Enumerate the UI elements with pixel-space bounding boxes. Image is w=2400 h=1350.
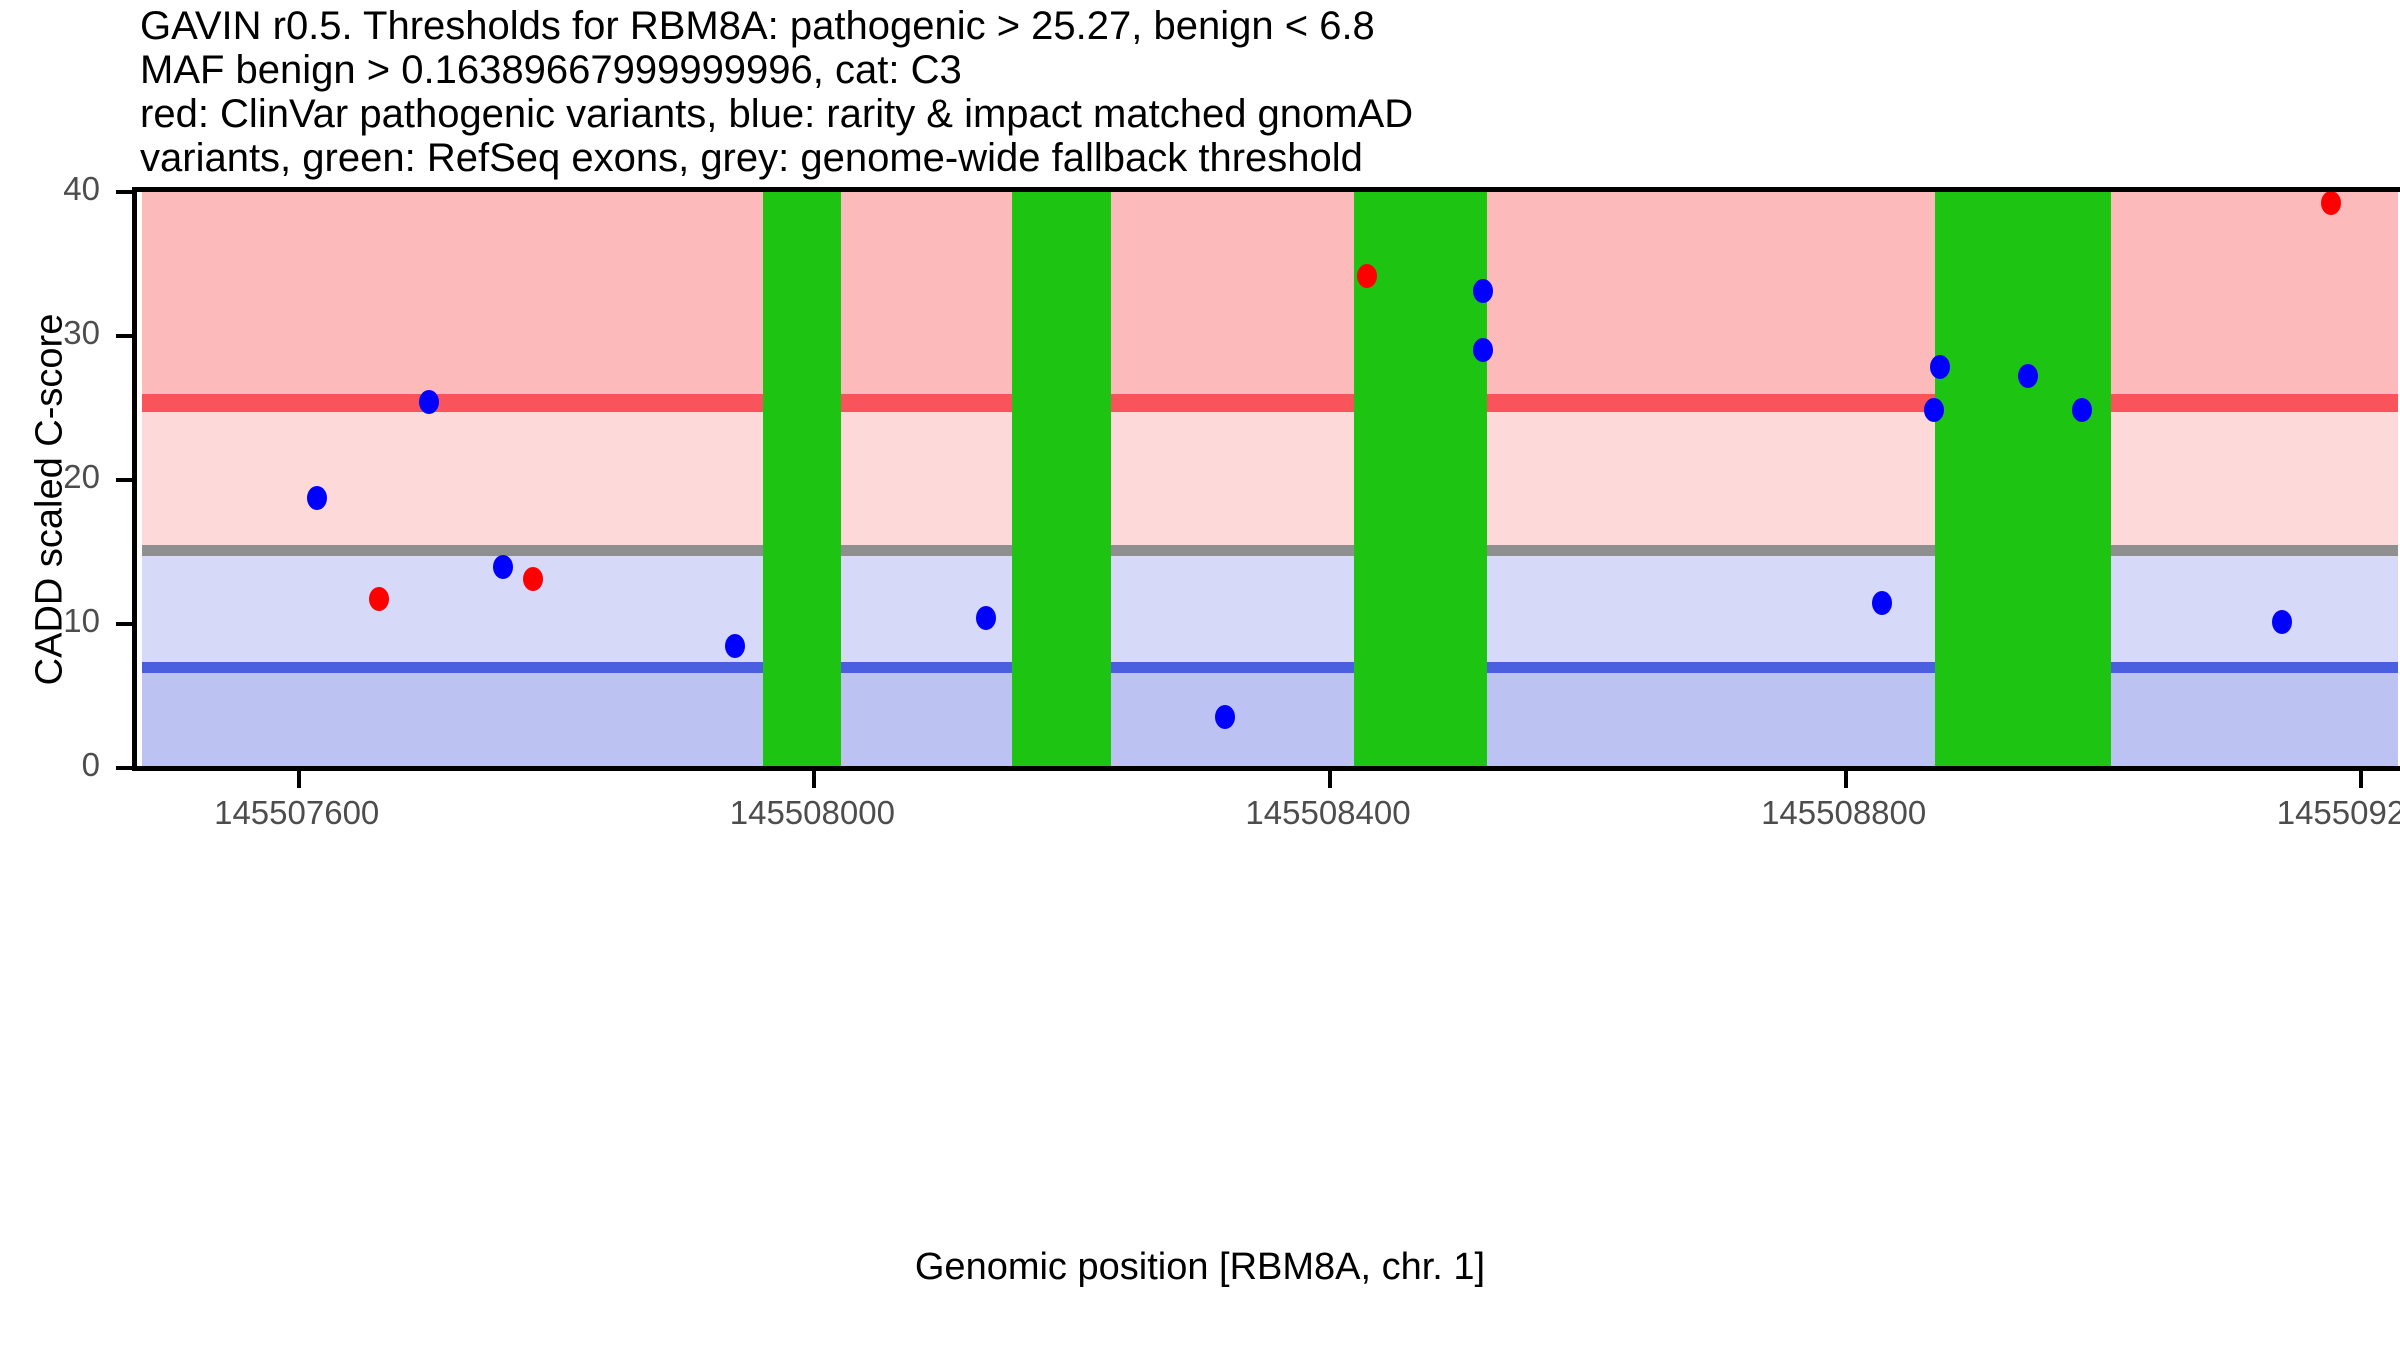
- x-tick-145508000: [812, 770, 816, 788]
- data-point-blue[interactable]: [1473, 279, 1493, 303]
- title-line-1: GAVIN r0.5. Thresholds for RBM8A: pathog…: [140, 4, 2340, 48]
- exon-bar-1: [763, 190, 840, 766]
- data-point-blue[interactable]: [1473, 338, 1493, 362]
- x-tick-145508400: [1328, 770, 1332, 788]
- y-tick-20: [116, 478, 134, 482]
- x-tick-label-145509200: 145509200: [2277, 794, 2400, 832]
- data-point-blue[interactable]: [1924, 398, 1944, 422]
- data-point-red[interactable]: [369, 587, 389, 611]
- data-point-blue[interactable]: [1930, 355, 1950, 379]
- data-point-blue[interactable]: [725, 634, 745, 658]
- x-tick-145507600: [297, 770, 301, 788]
- data-point-blue[interactable]: [419, 390, 439, 414]
- y-tick-0: [116, 766, 134, 770]
- data-point-red[interactable]: [1357, 264, 1377, 288]
- data-point-red[interactable]: [2321, 191, 2341, 215]
- x-axis-title: Genomic position [RBM8A, chr. 1]: [0, 1246, 2400, 1289]
- exon-bar-2: [1012, 190, 1111, 766]
- data-point-blue[interactable]: [976, 606, 996, 630]
- chart-title-block: GAVIN r0.5. Thresholds for RBM8A: pathog…: [140, 4, 2340, 180]
- x-tick-145508800: [1844, 770, 1848, 788]
- y-tick-10: [116, 622, 134, 626]
- data-point-blue[interactable]: [2072, 398, 2092, 422]
- data-point-blue[interactable]: [2272, 610, 2292, 634]
- x-tick-label-145508400: 145508400: [1245, 794, 1410, 832]
- data-point-blue[interactable]: [307, 486, 327, 510]
- y-tick-30: [116, 334, 134, 338]
- axis-top-line: [132, 187, 2400, 192]
- x-tick-label-145508800: 145508800: [1761, 794, 1926, 832]
- x-tick-label-145507600: 145507600: [214, 794, 379, 832]
- x-tick-label-145508000: 145508000: [730, 794, 895, 832]
- exon-bar-4: [1935, 190, 2110, 766]
- x-axis-line: [132, 766, 2400, 771]
- data-point-red[interactable]: [523, 567, 543, 591]
- title-line-2: MAF benign > 0.16389667999999996, cat: C…: [140, 48, 2340, 92]
- data-point-blue[interactable]: [1215, 705, 1235, 729]
- x-tick-145509200: [2359, 770, 2363, 788]
- plot-area: [142, 190, 2398, 766]
- data-point-blue[interactable]: [493, 555, 513, 579]
- chart-root: GAVIN r0.5. Thresholds for RBM8A: pathog…: [0, 0, 2400, 1350]
- y-axis-title: CADD scaled C-score: [29, 200, 72, 800]
- title-line-4: variants, green: RefSeq exons, grey: gen…: [140, 136, 2340, 180]
- data-point-blue[interactable]: [1872, 591, 1892, 615]
- title-line-3: red: ClinVar pathogenic variants, blue: …: [140, 92, 2340, 136]
- data-point-blue[interactable]: [2018, 364, 2038, 388]
- y-tick-40: [116, 190, 134, 194]
